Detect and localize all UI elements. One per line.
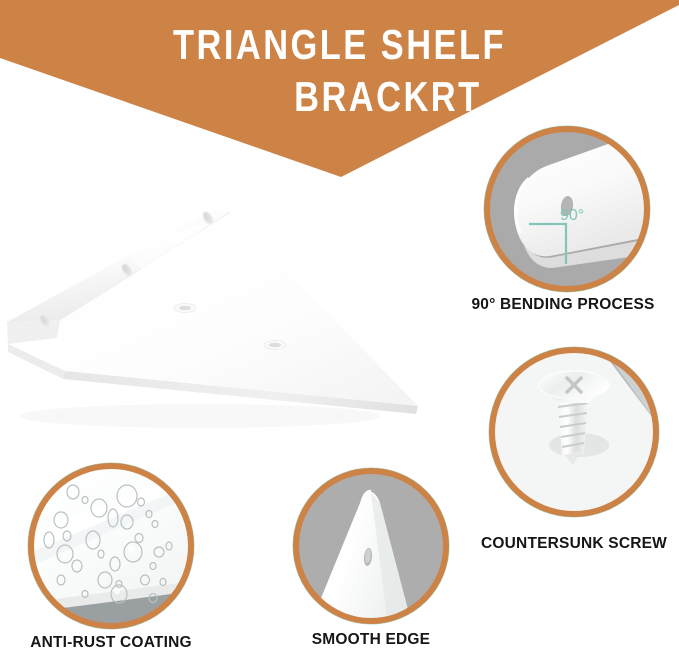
countersunk-screw-circle-image	[481, 337, 667, 537]
callout-countersunk-screw: COUNTERSUNK SCREW	[481, 337, 667, 562]
callout-label-antirust: ANTI-RUST COATING	[27, 634, 195, 652]
callout-smooth-edge: SMOOTH EDGE	[292, 467, 450, 665]
callout-label-screw: COUNTERSUNK SCREW	[481, 535, 667, 553]
callout-label-bending: 90° BENDING PROCESS	[470, 296, 656, 314]
bracket-illustration	[0, 168, 450, 438]
hero-product-image	[0, 168, 450, 438]
anti-rust-coating-circle-image	[27, 462, 195, 634]
callout-label-smooth: SMOOTH EDGE	[292, 631, 450, 649]
bending-process-circle-image: 90°	[474, 116, 660, 302]
callout-anti-rust-coating: ANTI-RUST COATING	[27, 462, 195, 662]
callout-bending-process: 90° 90° BENDING PROCESS	[474, 116, 660, 321]
product-feature-infographic: TRIANGLE SHELF BRACKRT	[0, 0, 679, 665]
angle-annotation: 90°	[560, 207, 584, 224]
smooth-edge-circle-image	[292, 467, 450, 629]
